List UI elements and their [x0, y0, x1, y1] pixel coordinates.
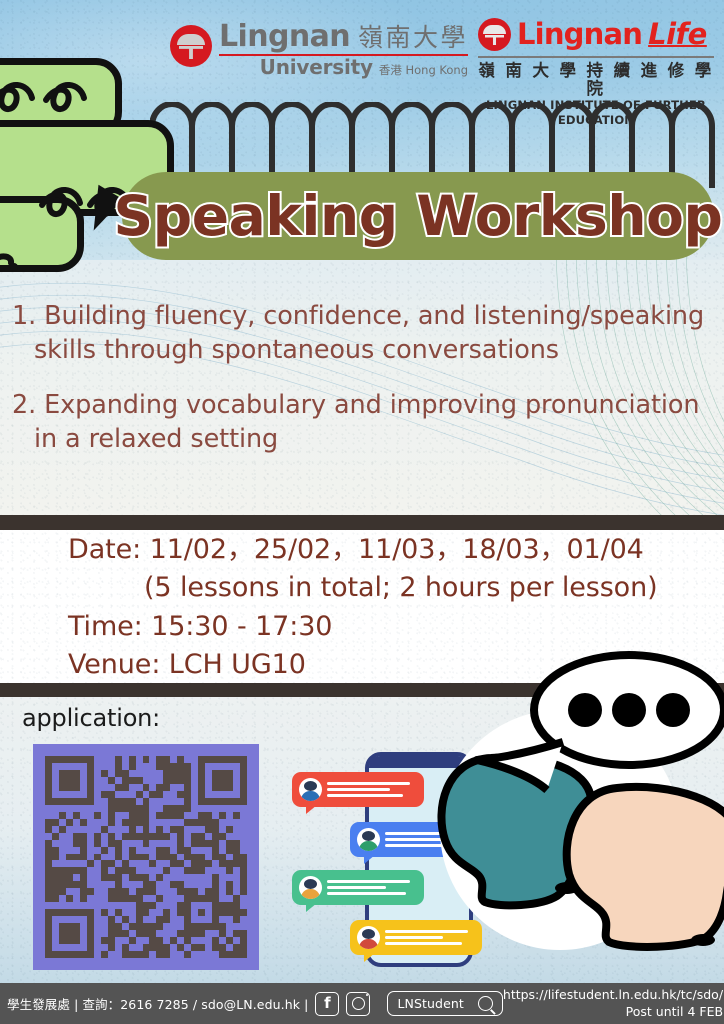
lu-university-word: University — [260, 57, 373, 77]
lnstudent-search-value: LNStudent — [397, 996, 463, 1011]
lu-name-en: Lingnan — [219, 22, 350, 52]
lu-location: 香港 Hong Kong — [379, 65, 468, 77]
detail-date-note: (5 lessons in total; 2 hours per lesson) — [68, 569, 658, 607]
instagram-icon[interactable] — [346, 992, 370, 1016]
bullet-item-2: 2. Expanding vocabulary and improving pr… — [12, 389, 712, 456]
detail-date: Date: 11/02，25/02，11/03，18/03，01/04 — [68, 531, 658, 569]
lingnan-university-logo: Lingnan 嶺南大學 University 香港 Hong Kong — [170, 22, 468, 77]
life-cn-name: 嶺 南 大 學 持 續 進 修 學 院 — [478, 62, 714, 98]
life-divider-rule — [478, 56, 714, 58]
facebook-icon[interactable]: f — [315, 992, 339, 1016]
qr-module-grid — [45, 756, 247, 958]
application-label: application: — [22, 704, 160, 732]
bullet-item-1: 1. Building fluency, confidence, and lis… — [12, 300, 712, 367]
life-brand: Lingnan — [517, 20, 642, 49]
footer-post-until: Post until 4 FEB — [503, 1004, 723, 1021]
qr-code[interactable] — [33, 744, 259, 970]
life-seal-icon — [478, 18, 511, 51]
footer-office-text: 學生發展處 | 查詢：2616 7285 / sdo@LN.edu.hk | — [7, 994, 308, 1013]
divider-top — [0, 515, 724, 530]
poster-root: Lingnan 嶺南大學 University 香港 Hong Kong Lin… — [0, 0, 724, 1024]
conversation-illustration — [295, 640, 724, 985]
lnstudent-search-box[interactable]: LNStudent — [387, 991, 502, 1016]
life-brand-italic: Life — [648, 20, 707, 49]
heads-graphic — [295, 640, 724, 985]
title-banner: Speaking Workshop — [122, 172, 714, 260]
lu-name-cn: 嶺南大學 — [358, 25, 468, 50]
footer-url[interactable]: https://lifestudent.ln.edu.hk/tc/sdo/ — [503, 987, 723, 1004]
search-icon — [478, 996, 493, 1011]
bullet-list: 1. Building fluency, confidence, and lis… — [12, 300, 712, 479]
page-title: Speaking Workshop — [114, 189, 723, 244]
footer-bar: 學生發展處 | 查詢：2616 7285 / sdo@LN.edu.hk | f… — [0, 983, 724, 1024]
